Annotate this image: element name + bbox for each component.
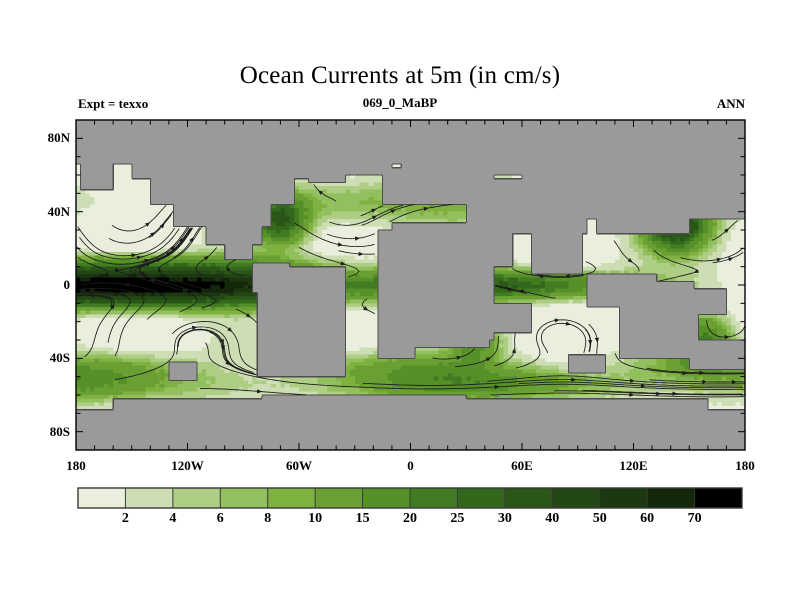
colorbar-swatch xyxy=(125,488,173,508)
x-axis-tick-label: 60W xyxy=(286,458,312,474)
colorbar-swatch xyxy=(268,488,316,508)
y-axis-tick-label: 40N xyxy=(26,204,70,220)
colorbar-swatch xyxy=(457,488,505,508)
colorbar-swatch xyxy=(220,488,268,508)
colorbar-tick-label: 20 xyxy=(403,511,417,527)
y-axis-tick-label: 0 xyxy=(26,277,70,293)
colorbar xyxy=(78,488,743,508)
colorbar-tick-label: 70 xyxy=(688,511,702,527)
colorbar-swatch xyxy=(363,488,411,508)
colorbar-tick-label: 60 xyxy=(640,511,654,527)
colorbar-tick-label: 2 xyxy=(122,511,129,527)
colorbar-swatch xyxy=(505,488,553,508)
colorbar-tick-label: 6 xyxy=(217,511,224,527)
y-axis-tick-label: 80S xyxy=(26,424,70,440)
colorbar-tick-label: 40 xyxy=(545,511,559,527)
colorbar-swatch xyxy=(552,488,600,508)
colorbar-tick-label: 15 xyxy=(356,511,370,527)
colorbar-swatch xyxy=(410,488,458,508)
x-axis-tick-label: 60E xyxy=(511,458,533,474)
colorbar-swatch xyxy=(647,488,695,508)
colorbar-swatch xyxy=(600,488,648,508)
colorbar-tick-label: 8 xyxy=(264,511,271,527)
colorbar-swatch xyxy=(315,488,363,508)
x-axis-tick-label: 120W xyxy=(171,458,204,474)
x-axis-tick-label: 0 xyxy=(407,458,414,474)
colorbar-swatch xyxy=(695,488,743,508)
colorbar-swatch xyxy=(173,488,221,508)
colorbar-tick-label: 50 xyxy=(593,511,607,527)
ocean-currents-figure: Ocean Currents at 5m (in cm/s) 069_0_MaB… xyxy=(0,0,800,600)
x-axis-tick-label: 120E xyxy=(619,458,647,474)
map-plot xyxy=(0,0,800,600)
colorbar-tick-label: 10 xyxy=(308,511,322,527)
y-axis-tick-label: 40S xyxy=(26,350,70,366)
y-axis-tick-label: 80N xyxy=(26,130,70,146)
colorbar-tick-label: 25 xyxy=(450,511,464,527)
colorbar-swatch xyxy=(78,488,126,508)
x-axis-tick-label: 180 xyxy=(66,458,86,474)
colorbar-tick-label: 4 xyxy=(169,511,176,527)
x-axis-tick-label: 180 xyxy=(735,458,755,474)
colorbar-tick-label: 30 xyxy=(498,511,512,527)
